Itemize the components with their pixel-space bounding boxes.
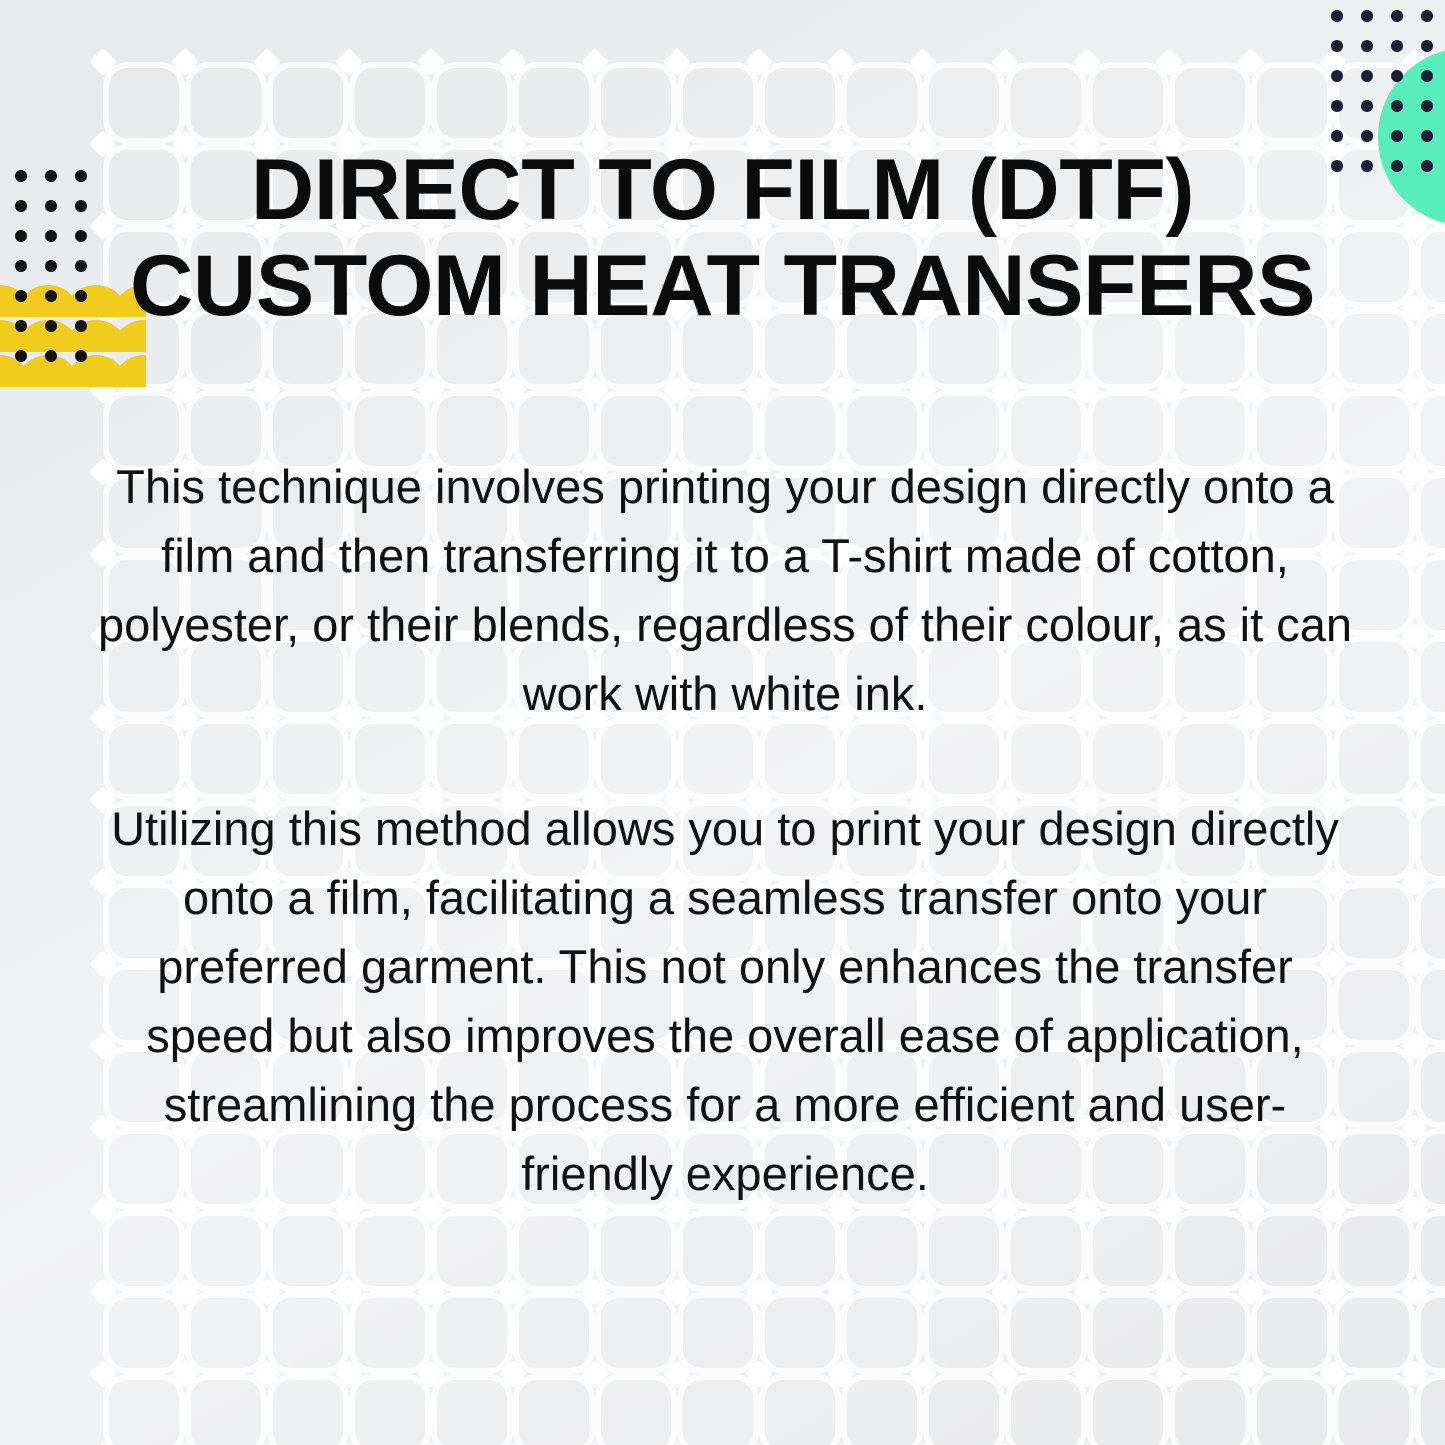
page-title: DIRECT TO FILM (DTF) CUSTOM HEAT TRANSFE…	[100, 142, 1345, 334]
paragraph-1: This technique involves printing your de…	[96, 452, 1354, 728]
content-area: DIRECT TO FILM (DTF) CUSTOM HEAT TRANSFE…	[0, 0, 1445, 1445]
poster-canvas: DIRECT TO FILM (DTF) CUSTOM HEAT TRANSFE…	[0, 0, 1445, 1445]
title-line-1: DIRECT TO FILM (DTF)	[88, 142, 1358, 238]
body-copy: This technique involves printing your de…	[96, 452, 1354, 1208]
title-line-2: CUSTOM HEAT TRANSFERS	[88, 238, 1358, 334]
paragraph-2: Utilizing this method allows you to prin…	[96, 794, 1354, 1208]
